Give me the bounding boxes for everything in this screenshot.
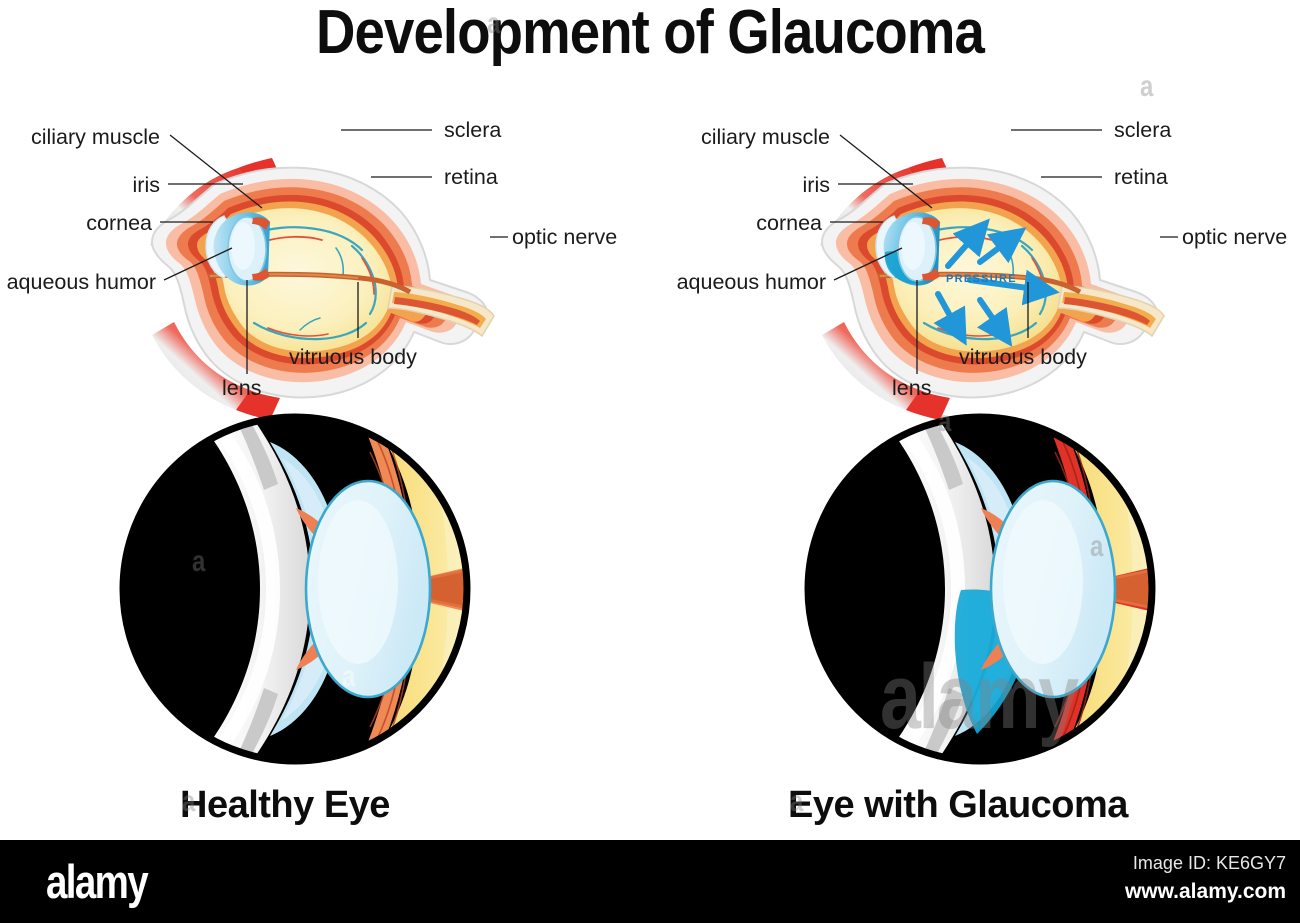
label-iris-left: iris xyxy=(0,173,160,197)
label-aqueous-humor-left: aqueous humor xyxy=(0,270,156,294)
label-vitruous-body-left: vitruous body xyxy=(289,345,417,369)
label-iris-right: iris xyxy=(670,173,830,197)
label-vitruous-body-right: vitruous body xyxy=(959,345,1087,369)
caption-glaucoma-eye: Eye with Glaucoma xyxy=(788,784,1128,827)
pressure-label: PRESSURE xyxy=(946,273,1017,285)
label-optic-nerve-left: optic nerve xyxy=(512,225,617,249)
alamy-image-id: Image ID: KE6GY7 xyxy=(1133,853,1286,874)
alamy-url[interactable]: www.alamy.com xyxy=(1125,880,1286,904)
diagram-canvas: Development of Glaucoma xyxy=(0,0,1300,923)
label-aqueous-humor-right: aqueous humor xyxy=(662,270,826,294)
page-title: Development of Glaucoma xyxy=(78,0,1222,66)
label-sclera-right: sclera xyxy=(1114,118,1171,142)
glaucoma-eye-closeup xyxy=(805,412,1175,767)
label-lens-right: lens xyxy=(892,376,931,400)
label-ciliary-muscle-right: ciliary muscle xyxy=(670,125,830,149)
label-ciliary-muscle-left: ciliary muscle xyxy=(0,125,160,149)
caption-healthy-eye: Healthy Eye xyxy=(180,784,390,827)
label-retina-right: retina xyxy=(1114,165,1168,189)
label-cornea-left: cornea xyxy=(0,211,152,235)
alamy-logo: alamy xyxy=(46,854,147,909)
label-retina-left: retina xyxy=(444,165,498,189)
label-cornea-right: cornea xyxy=(670,211,822,235)
label-optic-nerve-right: optic nerve xyxy=(1182,225,1287,249)
healthy-eye-closeup xyxy=(120,412,490,767)
alamy-footer-bar: alamy Image ID: KE6GY7 www.alamy.com xyxy=(0,840,1300,923)
label-lens-left: lens xyxy=(222,376,261,400)
label-sclera-left: sclera xyxy=(444,118,501,142)
